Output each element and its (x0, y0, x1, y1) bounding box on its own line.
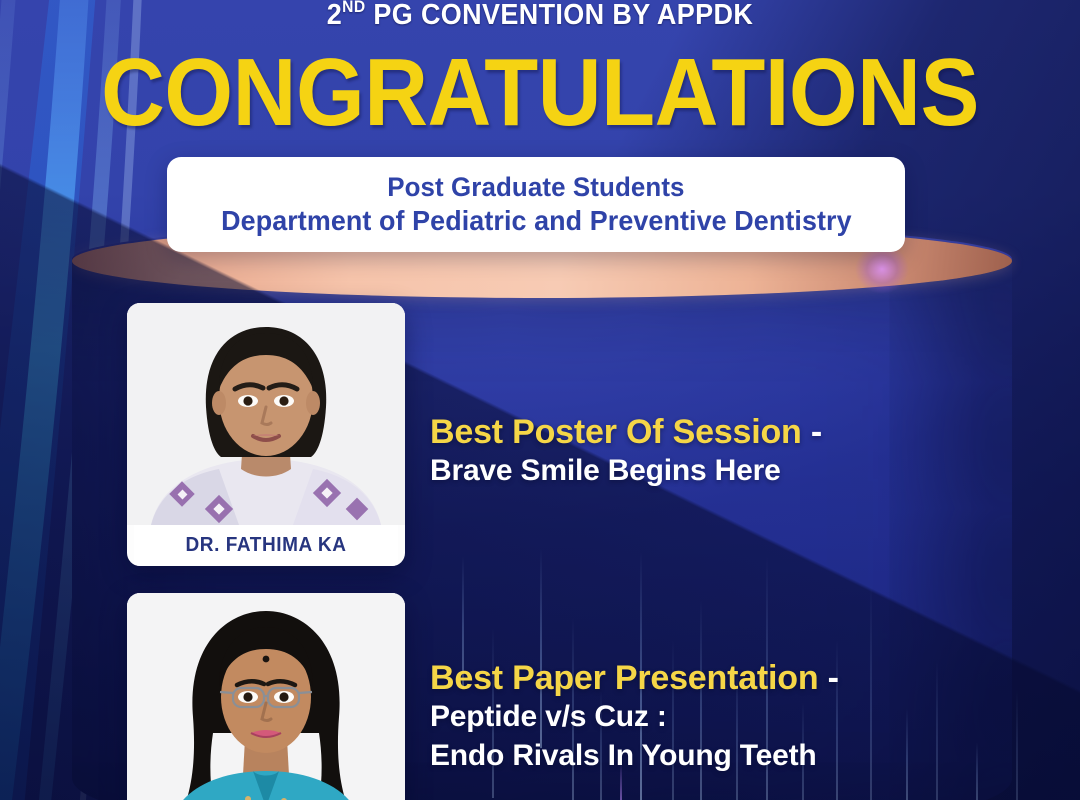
department-banner: Post Graduate Students Department of Ped… (167, 157, 905, 252)
event-kicker: 2ND PG CONVENTION BY APPDK (38, 0, 1042, 32)
award-subtitle-1-line-1: Brave Smile Begins Here (430, 452, 822, 490)
kicker-number: 2 (327, 0, 342, 31)
awardee-portrait-1 (127, 303, 405, 525)
award-text-1: Best Poster Of Session - Brave Smile Beg… (430, 412, 822, 491)
award-text-2: Best Paper Presentation - Peptide v/s Cu… (430, 658, 839, 775)
awardee-photo-card-1: DR. FATHIMA KA (127, 303, 405, 566)
awardee-portrait-2 (127, 593, 405, 800)
congratulations-poster: 2ND PG CONVENTION BY APPDK CONGRATULATIO… (0, 0, 1080, 800)
award-title-2-dash: - (818, 659, 838, 697)
award-title-2: Best Paper Presentation - (430, 658, 839, 698)
awardee-name-1: DR. FATHIMA KA (134, 525, 398, 566)
page-title: CONGRATULATIONS (43, 45, 1037, 141)
banner-line-1: Post Graduate Students (387, 172, 684, 203)
award-title-1-text: Best Poster Of Session (430, 413, 802, 451)
kicker-rest: PG CONVENTION BY APPDK (366, 0, 754, 31)
portrait-illustration-1 (127, 303, 405, 525)
award-title-1: Best Poster Of Session - (430, 412, 822, 452)
award-title-1-dash: - (802, 413, 822, 451)
kicker-ordinal-suffix: ND (342, 0, 365, 16)
awardee-photo-card-2 (127, 593, 405, 800)
portrait-illustration-2 (127, 593, 405, 800)
award-subtitle-2-line-2: Endo Rivals In Young Teeth (430, 737, 839, 775)
banner-line-2: Department of Pediatric and Preventive D… (221, 205, 852, 237)
award-title-2-text: Best Paper Presentation (430, 659, 818, 697)
award-subtitle-2-line-1: Peptide v/s Cuz : (430, 698, 839, 736)
